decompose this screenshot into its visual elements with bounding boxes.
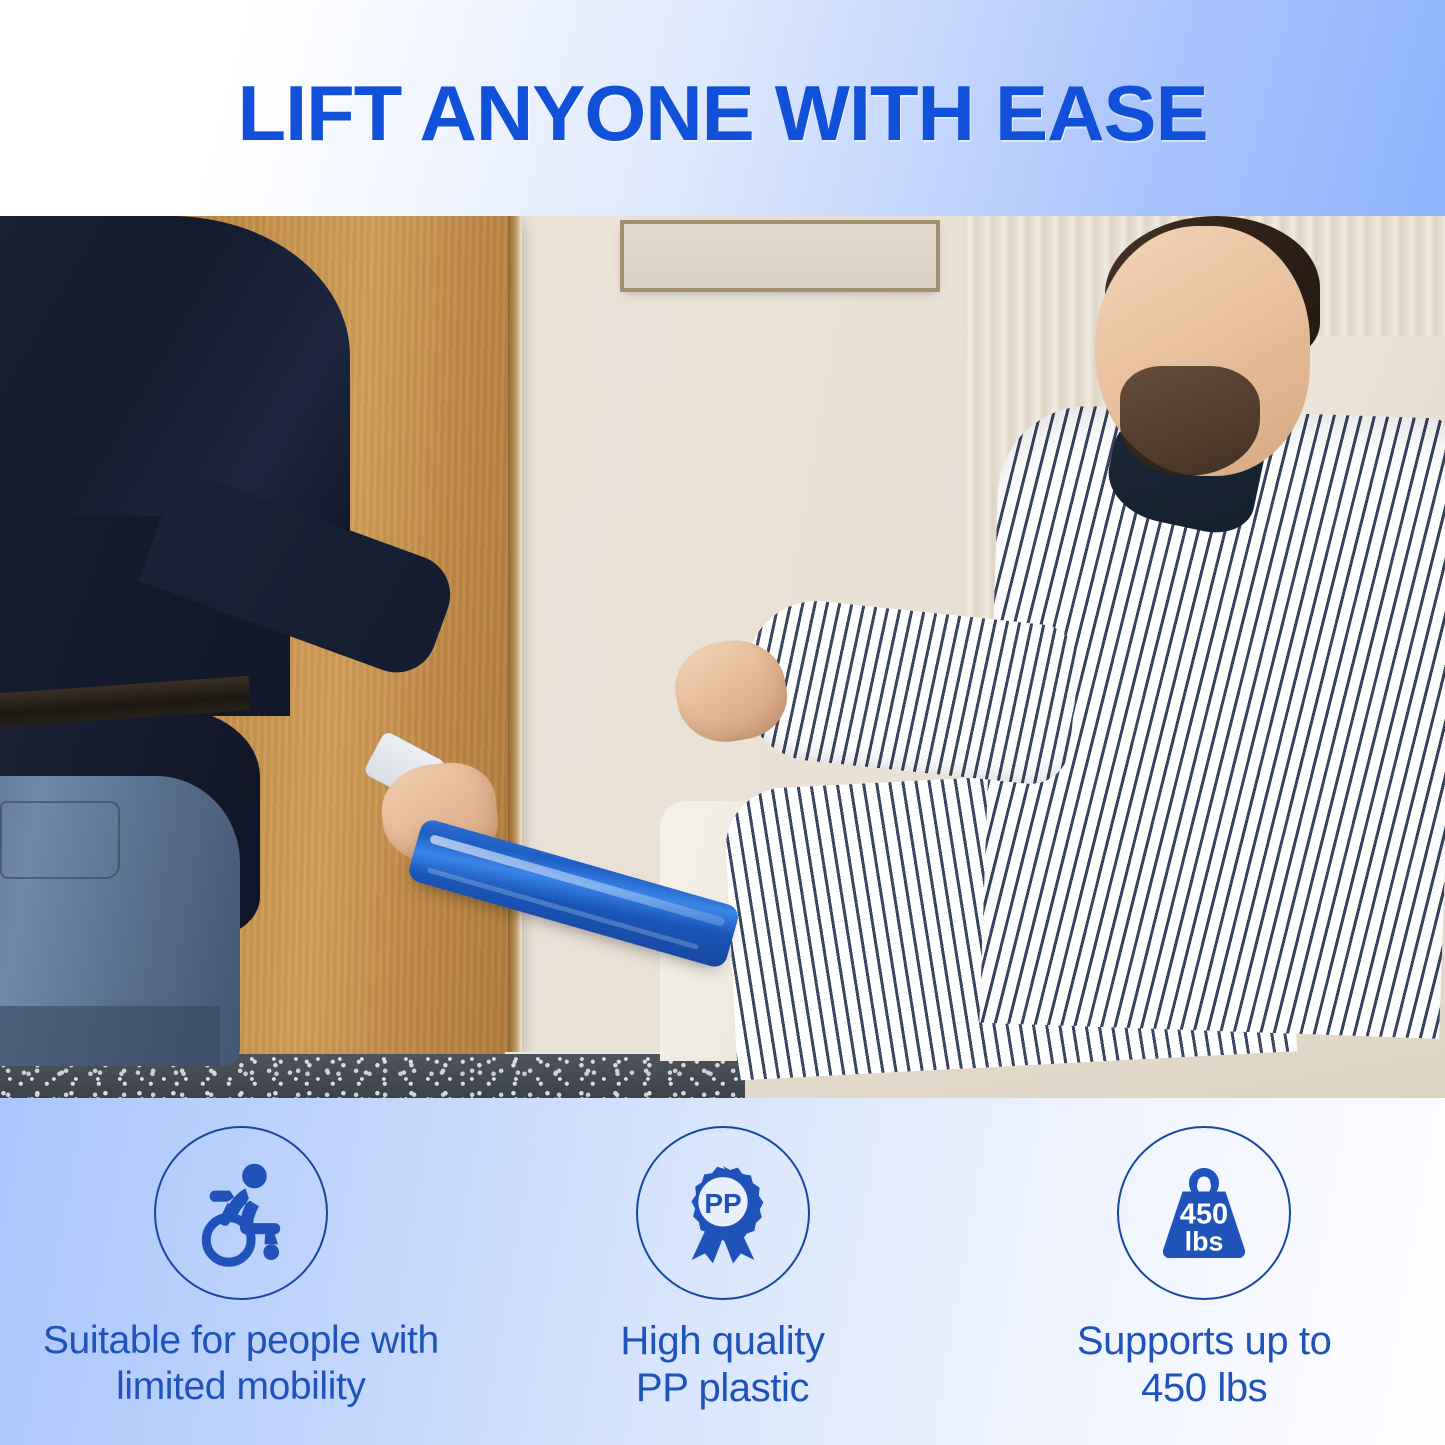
weight-capacity-icon: 450 lbs: [1145, 1157, 1263, 1269]
caregiver-jeans-pocket: [0, 801, 120, 879]
svg-text:PP: PP: [704, 1188, 741, 1219]
wall-picture-frame: [620, 220, 940, 292]
feature-item-mobility: Suitable for people with limited mobilit…: [0, 1098, 482, 1445]
feature-highlights-bar: Suitable for people with limited mobilit…: [0, 1098, 1445, 1445]
quality-badge-rosette-icon: PP: [667, 1157, 779, 1269]
feature-caption: High quality PP plastic: [620, 1318, 824, 1412]
feature-item-capacity: 450 lbs Supports up to 450 lbs: [963, 1098, 1445, 1445]
feature-caption: Supports up to 450 lbs: [1077, 1318, 1332, 1412]
feature-caption: Suitable for people with limited mobilit…: [43, 1318, 439, 1410]
feature-icon-circle: PP: [636, 1126, 810, 1300]
caregiver-jeans-leg: [0, 1006, 220, 1066]
feature-icon-circle: [154, 1126, 328, 1300]
wheelchair-accessible-icon: [185, 1157, 297, 1269]
product-lifestyle-photo: [0, 216, 1445, 1098]
svg-text:lbs: lbs: [1185, 1227, 1224, 1257]
feature-item-quality: PP High quality PP plastic: [482, 1098, 964, 1445]
page-title: LIFT ANYONE WITH EASE: [237, 58, 1207, 159]
header-banner: LIFT ANYONE WITH EASE: [0, 0, 1445, 216]
door-edge: [508, 216, 522, 1062]
feature-icon-circle: 450 lbs: [1117, 1126, 1291, 1300]
